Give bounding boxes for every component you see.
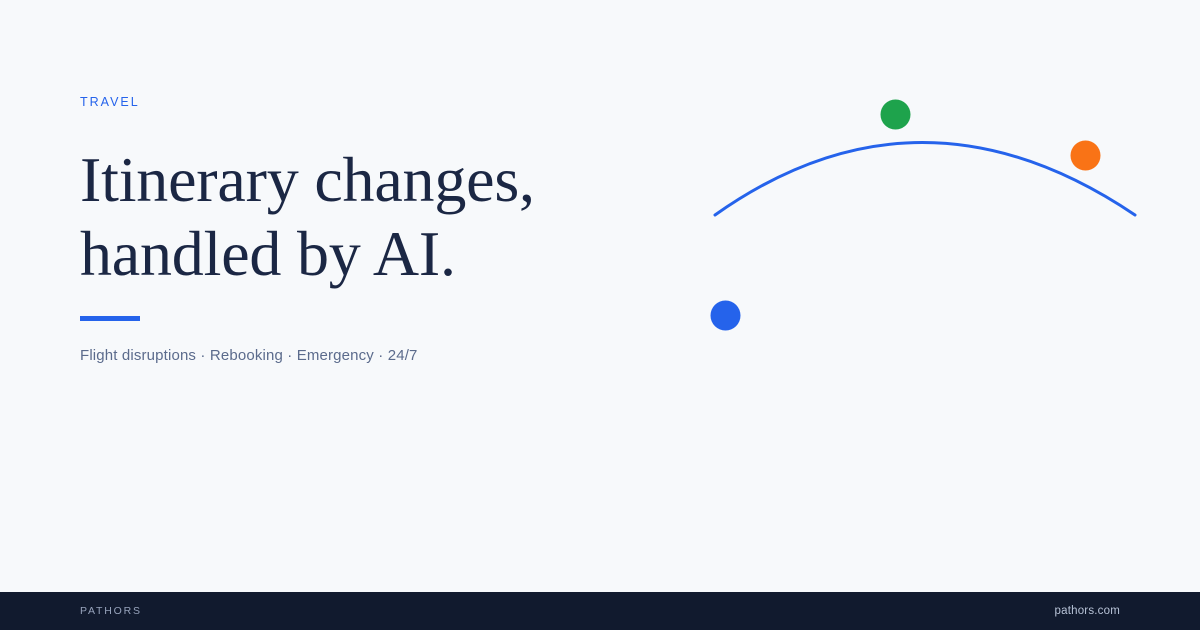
category-eyebrow: TRAVEL bbox=[80, 96, 640, 109]
node-orange-icon bbox=[1071, 141, 1101, 171]
node-green-icon bbox=[881, 100, 911, 130]
node-blue-icon bbox=[711, 301, 741, 331]
subtitle-text: Flight disruptions · Rebooking · Emergen… bbox=[80, 345, 640, 366]
decorative-graphic bbox=[680, 60, 1160, 380]
footer-bar: PATHORS pathors.com bbox=[0, 592, 1200, 630]
footer-url-label: pathors.com bbox=[1055, 605, 1120, 617]
page-title: Itinerary changes, handled by AI. bbox=[80, 143, 640, 293]
footer-brand-label: PATHORS bbox=[80, 605, 142, 617]
content-block: TRAVEL Itinerary changes, handled by AI.… bbox=[80, 96, 640, 366]
poster-canvas: TRAVEL Itinerary changes, handled by AI.… bbox=[0, 0, 1200, 630]
accent-rule-divider bbox=[80, 316, 140, 321]
